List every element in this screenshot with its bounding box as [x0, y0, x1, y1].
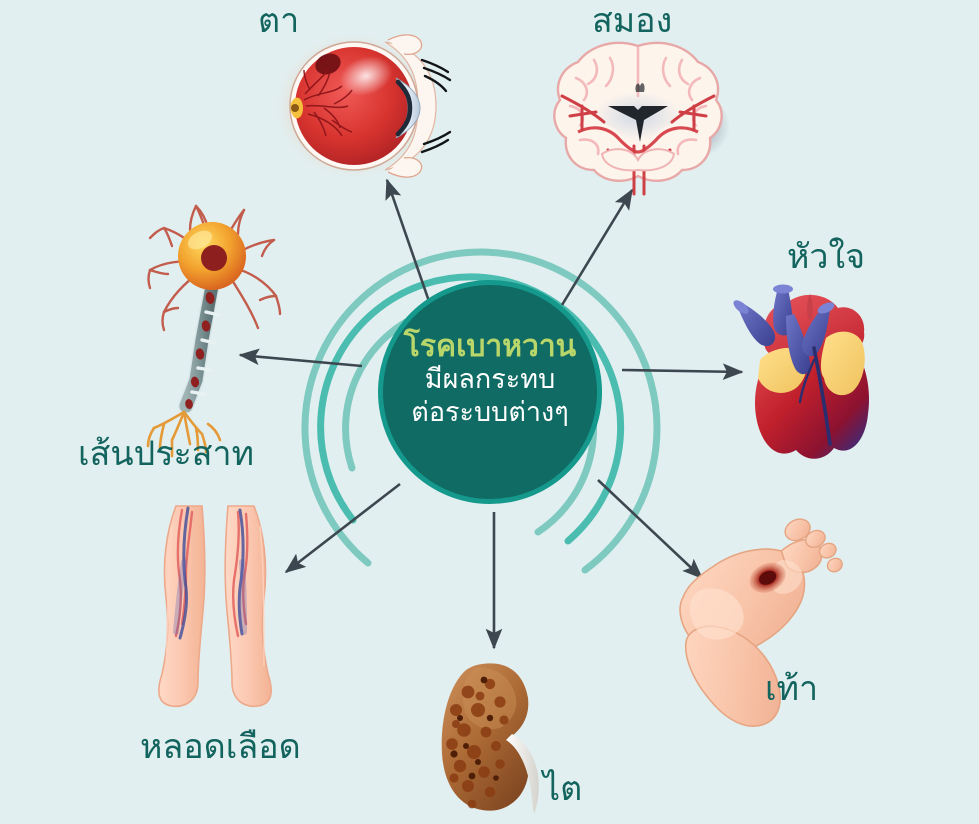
- center-node: [378, 280, 602, 504]
- label-blood-vessel: หลอดเลือด: [140, 730, 301, 764]
- arrow-to-brain: [562, 190, 632, 305]
- arrow-to-foot: [598, 480, 702, 578]
- label-nerve: เส้นประสาท: [78, 437, 254, 471]
- arrow-to-nerve: [240, 355, 362, 366]
- arrow-to-heart: [622, 370, 742, 372]
- infographic-canvas: โรคเบาหวาน มีผลกระทบ ต่อระบบต่างๆ ตา สมอ…: [0, 0, 979, 824]
- label-kidney: ไต: [543, 772, 582, 806]
- nerve-cell-illustration: [148, 206, 280, 456]
- arrow-to-vessel: [286, 484, 400, 572]
- blood-vessel-illustration: [159, 506, 271, 706]
- kidney-illustration: [442, 663, 539, 814]
- label-foot: เท้า: [765, 672, 818, 706]
- label-brain: สมอง: [592, 4, 672, 38]
- heart-illustration: [731, 285, 869, 459]
- eye-illustration: [272, 30, 450, 182]
- brain-illustration: [554, 43, 730, 194]
- label-eye: ตา: [258, 4, 299, 38]
- diagram-svg: [0, 0, 979, 824]
- label-heart: หัวใจ: [787, 240, 865, 274]
